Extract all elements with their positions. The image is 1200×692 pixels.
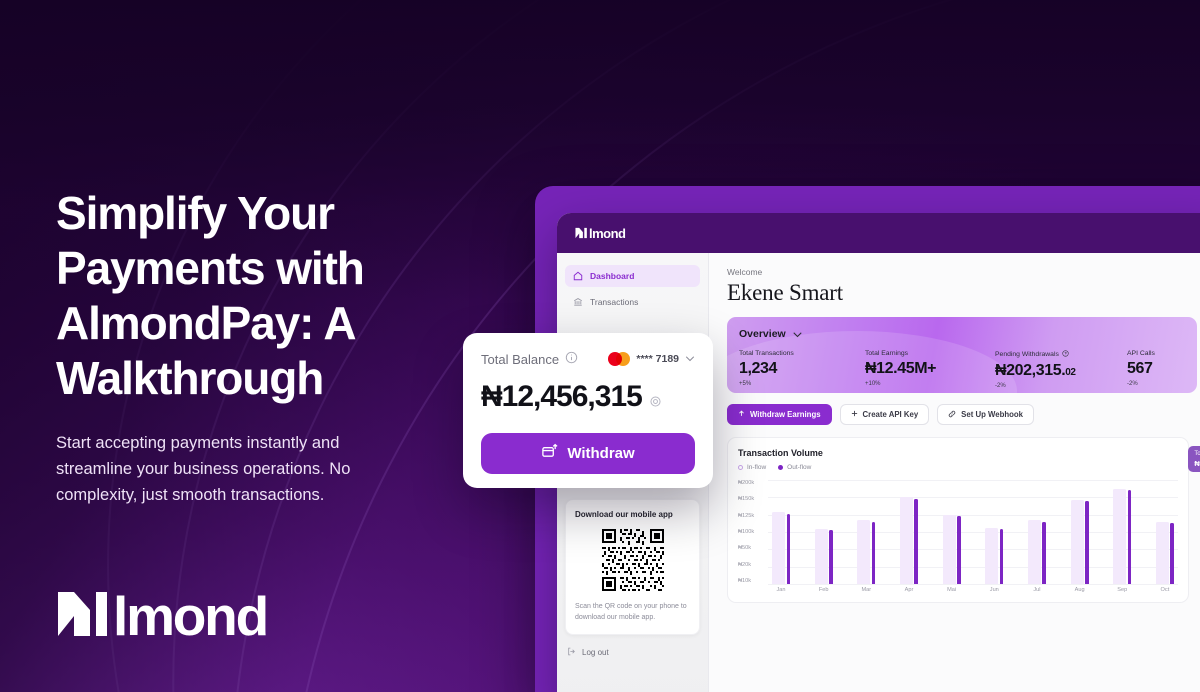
mastercard-icon <box>608 352 630 366</box>
withdraw-earnings-button[interactable]: Withdraw Earnings <box>727 404 832 425</box>
mobile-app-qr-panel: Download our mobile app <box>565 499 700 635</box>
chart-y-tick: ₦200k <box>738 480 754 486</box>
overview-panel: Overview Total Transactions 1,234 +5% To… <box>727 317 1197 393</box>
chart-legend: In-flow Out-flow <box>738 464 1178 471</box>
stat-total-transactions: Total Transactions 1,234 +5% <box>739 350 865 389</box>
stat-delta: +5% <box>739 381 865 387</box>
chart-bar-group[interactable] <box>853 480 879 584</box>
chart-bar-group[interactable] <box>1152 480 1178 584</box>
chart-bar-outflow <box>1170 523 1174 584</box>
chart-bar-inflow <box>857 520 870 584</box>
stat-label: Total Transactions <box>739 350 794 357</box>
legend-swatch-outflow <box>778 465 783 470</box>
chart-x-tick: Feb <box>811 587 837 593</box>
chart-tooltip: Tota ₦3. <box>1188 446 1200 472</box>
plus-icon <box>851 410 858 419</box>
info-icon[interactable] <box>565 351 578 367</box>
legend-item-inflow: In-flow <box>738 464 766 471</box>
almond-logo-icon <box>56 590 112 643</box>
chart-x-tick: Jan <box>768 587 794 593</box>
withdraw-button[interactable]: Withdraw <box>481 433 695 474</box>
chart-x-tick: Apr <box>896 587 922 593</box>
logout-label: Log out <box>582 648 609 657</box>
chart-y-tick: ₦20k <box>738 562 751 568</box>
chart-bar-group[interactable] <box>896 480 922 584</box>
chart-bar-inflow <box>772 512 785 584</box>
balance-amount: ₦12,456,315 <box>481 380 642 414</box>
chart-x-tick: Oct <box>1152 587 1178 593</box>
qr-panel-title: Download our mobile app <box>575 510 690 519</box>
sidebar-item-label: Transactions <box>590 297 638 307</box>
chart-bar-inflow <box>1028 520 1041 584</box>
chart-bar-outflow <box>1128 490 1132 584</box>
chart-bar-inflow <box>1113 489 1126 584</box>
stat-label: API Calls <box>1127 350 1155 357</box>
bank-icon <box>573 297 583 307</box>
chart-bars <box>768 480 1178 584</box>
dashboard-main: Welcome Ekene Smart Overview Total Trans… <box>709 253 1200 692</box>
chart-y-tick: ₦50k <box>738 545 751 551</box>
almond-logo-icon <box>575 227 588 239</box>
welcome-label: Welcome <box>727 267 1200 277</box>
set-up-webhook-button[interactable]: Set Up Webhook <box>937 404 1034 425</box>
chart-bar-outflow <box>787 514 791 584</box>
brand-logo: lmond <box>56 589 267 644</box>
chart-bar-group[interactable] <box>1024 480 1050 584</box>
chart-bar-inflow <box>1156 522 1169 584</box>
sidebar-item-dashboard[interactable]: Dashboard <box>565 265 700 287</box>
legend-label: Out-flow <box>787 464 811 471</box>
chart-bar-outflow <box>914 499 918 585</box>
stat-total-earnings: Total Earnings ₦12.45M+ +10% <box>865 350 995 389</box>
dashboard-topbar: lmond <box>557 213 1200 253</box>
legend-swatch-inflow <box>738 465 743 470</box>
total-balance-label-group: Total Balance <box>481 351 578 367</box>
transaction-volume-chart: Transaction Volume In-flow Out-flow ₦200… <box>727 437 1189 603</box>
chart-x-axis: JanFebMarAprMaiJunJulAugSepOct <box>768 584 1178 596</box>
chart-x-tick: Jul <box>1024 587 1050 593</box>
link-icon <box>948 410 956 420</box>
user-name: Ekene Smart <box>727 280 1200 306</box>
home-icon <box>573 271 583 281</box>
button-label: Set Up Webhook <box>961 410 1023 419</box>
tooltip-value: ₦3. <box>1194 459 1200 468</box>
tooltip-label: Tota <box>1194 450 1200 459</box>
stat-value: ₦202,315.02 <box>995 362 1127 380</box>
stat-delta: -2% <box>995 383 1127 389</box>
brand-wordmark: lmond <box>113 589 267 644</box>
chevron-down-icon[interactable] <box>793 325 802 343</box>
stat-label: Pending Withdrawals <box>995 351 1059 358</box>
chart-y-tick: ₦10k <box>738 578 751 584</box>
withdraw-label: Withdraw <box>567 445 634 462</box>
chart-plot-area: JanFebMarAprMaiJunJulAugSepOct <box>768 480 1178 596</box>
chart-bar-outflow <box>872 522 876 584</box>
chart-y-tick: ₦100k <box>738 529 754 535</box>
chart-x-tick: Jun <box>981 587 1007 593</box>
chart-y-tick: ₦150k <box>738 496 754 502</box>
stat-delta: +10% <box>865 381 995 387</box>
chart-bar-group[interactable] <box>1067 480 1093 584</box>
chart-y-axis: ₦200k₦150k₦125k₦100k₦50k₦20k₦10k <box>738 480 768 596</box>
balance-amount-row: ₦12,456,315 <box>481 380 695 416</box>
create-api-key-button[interactable]: Create API Key <box>840 404 930 425</box>
withdraw-icon <box>541 443 558 464</box>
legend-item-outflow: Out-flow <box>778 464 811 471</box>
chart-bar-outflow <box>1000 529 1004 584</box>
stat-label: Total Earnings <box>865 350 908 357</box>
overview-title: Overview <box>739 328 786 340</box>
stat-value: 567 <box>1127 360 1197 378</box>
hero-subtext: Start accepting payments instantly and s… <box>56 430 456 508</box>
sidebar-item-transactions[interactable]: Transactions <box>565 291 700 313</box>
chart-bar-inflow <box>1071 500 1084 584</box>
chart-plot: ₦200k₦150k₦125k₦100k₦50k₦20k₦10k JanFebM… <box>738 480 1178 596</box>
visibility-toggle-icon[interactable] <box>649 382 662 416</box>
page-title: Simplify Your Payments with AlmondPay: A… <box>56 186 456 406</box>
chart-bar-inflow <box>900 497 913 584</box>
stat-value: 1,234 <box>739 360 865 378</box>
logout-button[interactable]: Log out <box>565 647 700 658</box>
chart-x-tick: Aug <box>1067 587 1093 593</box>
stat-delta: -2% <box>1127 381 1197 387</box>
card-selector[interactable]: **** 7189 <box>608 352 695 366</box>
legend-label: In-flow <box>747 464 766 471</box>
chart-bar-outflow <box>1042 522 1046 584</box>
chart-bar-outflow <box>829 530 833 584</box>
chart-bar-inflow <box>815 529 828 584</box>
stat-value-main: ₦202,315. <box>995 362 1065 379</box>
chart-x-tick: Sep <box>1109 587 1135 593</box>
balance-label: Total Balance <box>481 352 559 367</box>
sidebar-item-label: Dashboard <box>590 271 634 281</box>
arrow-up-icon <box>738 410 745 419</box>
stat-value: ₦12.45M+ <box>865 360 995 378</box>
chart-bar-outflow <box>957 516 961 584</box>
chart-bar-group[interactable] <box>768 480 794 584</box>
card-mask: **** 7189 <box>636 353 679 365</box>
chart-bar-outflow <box>1085 501 1089 584</box>
hero-copy: Simplify Your Payments with AlmondPay: A… <box>56 186 456 508</box>
chart-bar-inflow <box>985 528 998 584</box>
chart-title: Transaction Volume <box>738 448 1178 458</box>
chart-x-tick: Mar <box>853 587 879 593</box>
stat-api-calls: API Calls 567 -2% <box>1127 350 1197 389</box>
chart-x-tick: Mai <box>939 587 965 593</box>
chart-bar-group[interactable] <box>939 480 965 584</box>
chart-bar-group[interactable] <box>1109 480 1135 584</box>
chart-bar-group[interactable] <box>811 480 837 584</box>
qr-panel-note: Scan the QR code on your phone to downlo… <box>575 602 690 623</box>
stat-pending-withdrawals: Pending Withdrawals ₦202,315.02 -2% <box>995 350 1127 389</box>
chart-bar-inflow <box>943 515 956 584</box>
chevron-down-icon <box>685 353 695 365</box>
button-label: Create API Key <box>863 410 919 419</box>
help-icon[interactable] <box>1062 350 1069 359</box>
button-label: Withdraw Earnings <box>750 410 821 419</box>
stat-value-decimals: 02 <box>1065 367 1075 378</box>
chart-y-tick: ₦125k <box>738 513 754 519</box>
total-balance-card: Total Balance **** 7189 ₦12,456,315 With… <box>463 333 713 488</box>
dashboard-brand-wordmark: lmond <box>589 226 626 241</box>
chart-bar-group[interactable] <box>981 480 1007 584</box>
logout-icon <box>567 647 576 658</box>
qr-code-icon <box>600 527 666 593</box>
action-buttons: Withdraw Earnings Create API Key Set Up … <box>727 404 1200 425</box>
